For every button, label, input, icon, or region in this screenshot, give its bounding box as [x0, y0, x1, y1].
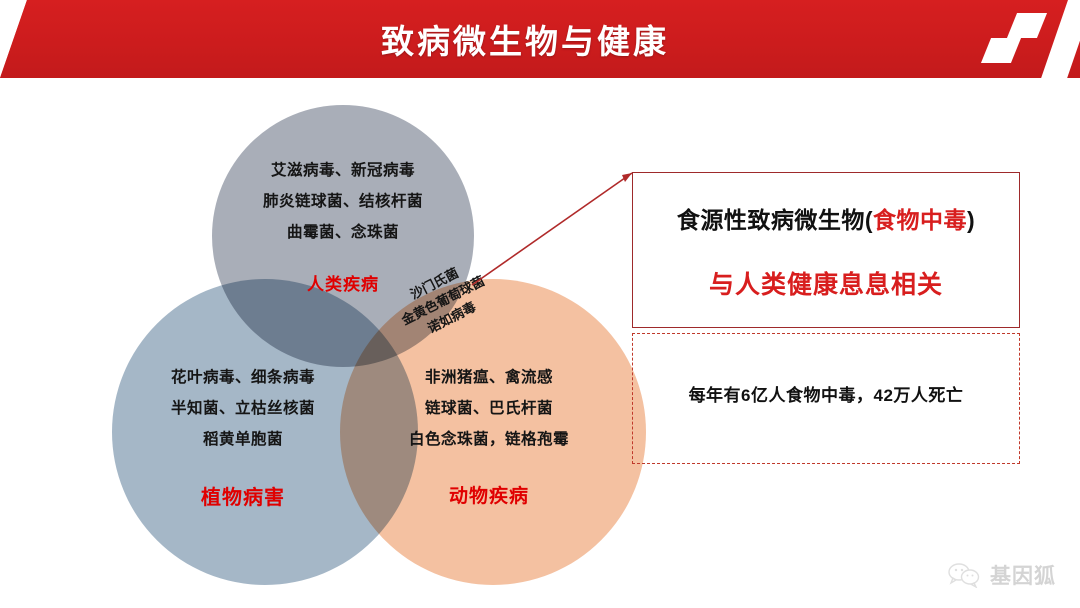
logo-parallelogram-upper — [1007, 13, 1047, 38]
callout-primary-suffix: ) — [967, 207, 975, 233]
venn-items-plant-disease: 花叶病毒、细条病毒半知菌、立枯丝核菌稻黄单胞菌 — [108, 362, 378, 455]
text-line: 花叶病毒、细条病毒 — [108, 362, 378, 393]
text-line: 曲霉菌、念珠菌 — [214, 217, 472, 248]
venn-items-human-disease: 艾滋病毒、新冠病毒肺炎链球菌、结核杆菌曲霉菌、念珠菌 — [214, 155, 472, 248]
watermark-text: 基因狐 — [990, 560, 1056, 590]
callout-panel-primary: 食源性致病微生物(食物中毒) 与人类健康息息相关 — [632, 172, 1020, 328]
callout-panel-secondary: 每年有6亿人食物中毒，42万人死亡 — [632, 333, 1020, 464]
callout-secondary-text: 每年有6亿人食物中毒，42万人死亡 — [633, 381, 1019, 406]
callout-primary-prefix: 食源性致病微生物( — [677, 207, 873, 233]
callout-primary-line2: 与人类健康息息相关 — [633, 265, 1019, 301]
text-line: 稻黄单胞菌 — [108, 424, 378, 455]
brand-logo-icon — [986, 10, 1052, 68]
wechat-icon — [947, 562, 981, 588]
text-line: 半知菌、立枯丝核菌 — [108, 393, 378, 424]
text-line: 白色念珠菌，链格孢霉 — [352, 424, 626, 455]
callout-primary-line1: 食源性致病微生物(食物中毒) — [633, 201, 1019, 235]
title-banner: 致病微生物与健康 — [0, 0, 1080, 80]
venn-items-animal-disease: 非洲猪瘟、禽流感链球菌、巴氏杆菌白色念珠菌，链格孢霉 — [352, 362, 626, 455]
text-line: 肺炎链球菌、结核杆菌 — [214, 186, 472, 217]
watermark: 基因狐 — [947, 560, 1056, 590]
text-line: 艾滋病毒、新冠病毒 — [214, 155, 472, 186]
logo-parallelogram-lower — [981, 38, 1021, 63]
page-title: 致病微生物与健康 — [0, 0, 1080, 78]
venn-diagram: 艾滋病毒、新冠病毒肺炎链球菌、结核杆菌曲霉菌、念珠菌 人类疾病 花叶病毒、细条病… — [0, 82, 640, 602]
text-line: 非洲猪瘟、禽流感 — [352, 362, 626, 393]
callout-primary-highlight: 食物中毒 — [873, 207, 967, 233]
text-line: 链球菌、巴氏杆菌 — [352, 393, 626, 424]
venn-label-animal-disease: 动物疾病 — [352, 481, 626, 508]
venn-label-plant-disease: 植物病害 — [108, 481, 378, 510]
